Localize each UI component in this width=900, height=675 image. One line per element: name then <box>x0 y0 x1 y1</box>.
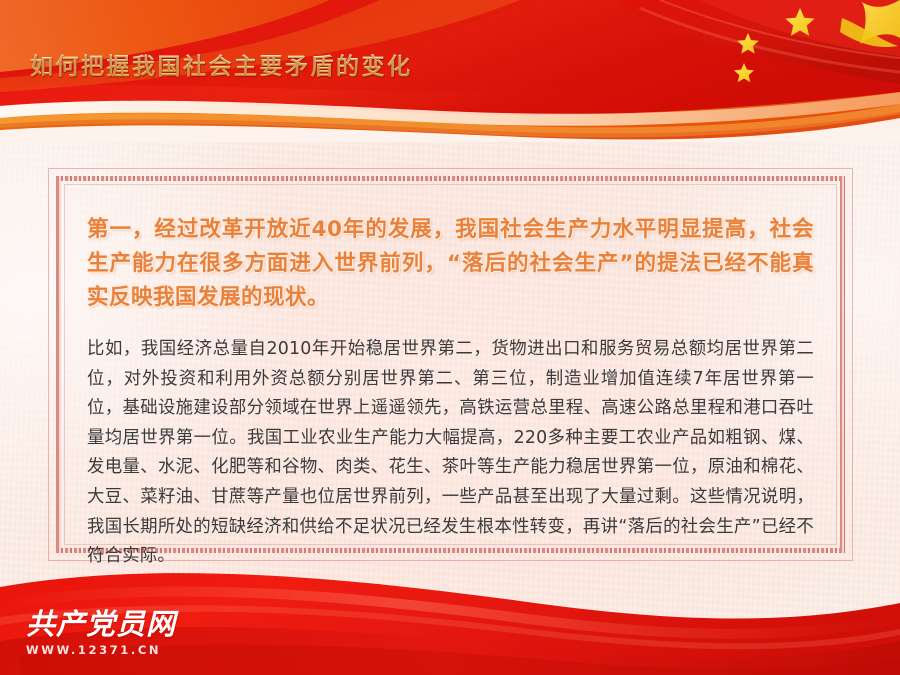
site-logo-name: 共产党员网 <box>26 609 176 639</box>
content-panel: 第一，经过改革开放近40年的发展，我国社会生产力水平明显提高，社会生产能力在很多… <box>48 168 853 561</box>
header-banner: 如何把握我国社会主要矛盾的变化 如何把握我国社会主要矛盾的变化 <box>0 0 900 142</box>
body-paragraph: 比如，我国经济总量自2010年开始稳居世界第二，货物进出口和服务贸易总额均居世界… <box>87 335 814 572</box>
site-logo[interactable]: 共产党员网 WWW.12371.CN <box>26 609 176 657</box>
page-title: 如何把握我国社会主要矛盾的变化 <box>30 47 413 81</box>
footer-wave-banner: 共产党员网 WWW.12371.CN <box>0 545 900 675</box>
lead-paragraph: 第一，经过改革开放近40年的发展，我国社会生产力水平明显提高，社会生产能力在很多… <box>87 213 814 315</box>
poster-canvas: 如何把握我国社会主要矛盾的变化 如何把握我国社会主要矛盾的变化 第一，经过改革开… <box>0 0 900 675</box>
site-logo-url: WWW.12371.CN <box>26 643 176 657</box>
content-panel-border: 第一，经过改革开放近40年的发展，我国社会生产力水平明显提高，社会生产能力在很多… <box>56 176 845 553</box>
